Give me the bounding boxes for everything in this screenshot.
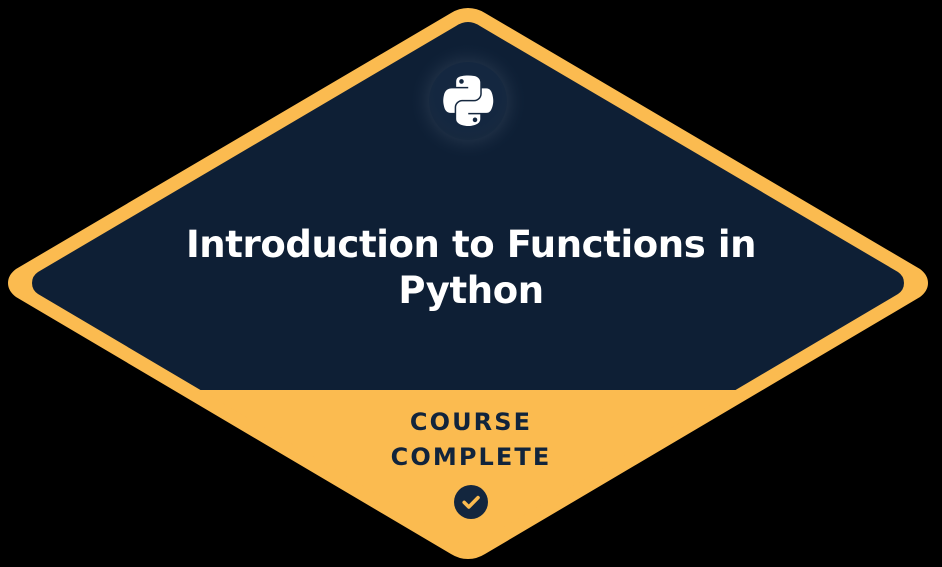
status-label-line-2: COMPLETE [171,440,771,475]
status-label-line-1: COURSE [171,405,771,440]
course-completion-badge: Introduction to Functions in Python COUR… [0,0,942,567]
python-logo-icon [412,45,525,158]
completion-status-block: COURSE COMPLETE [171,405,771,519]
check-circle-wrap [171,485,771,519]
check-circle-icon [454,485,488,519]
course-title: Introduction to Functions in Python [171,222,771,314]
